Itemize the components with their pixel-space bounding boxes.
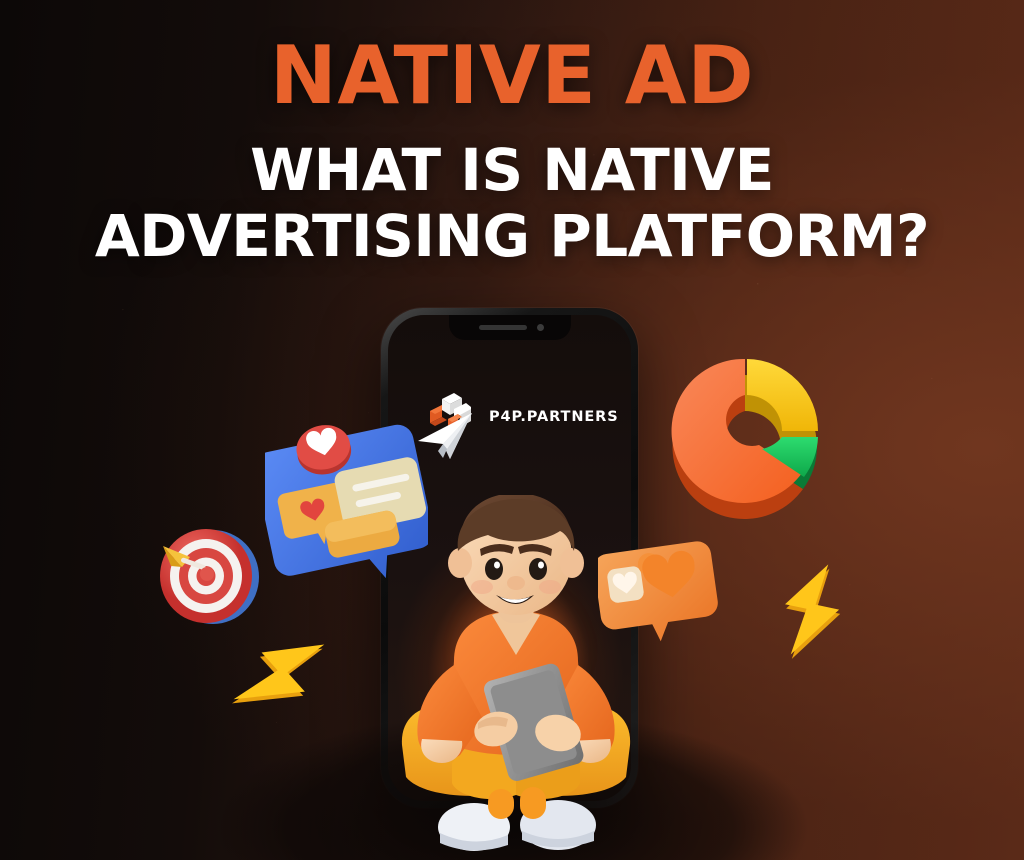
phone-notch: [449, 315, 571, 340]
heading-block: NATIVE AD WHAT IS NATIVE ADVERTISING PLA…: [0, 38, 1024, 269]
page-title: NATIVE AD: [0, 38, 1024, 114]
lightning-bolt-right-icon: [766, 560, 858, 664]
page-subtitle: WHAT IS NATIVE ADVERTISING PLATFORM?: [0, 138, 1024, 269]
donut-chart-icon: [655, 345, 835, 535]
front-camera-icon: [537, 324, 544, 331]
character-illustration: [392, 495, 640, 860]
earpiece-speaker-icon: [479, 325, 527, 330]
target-dart-icon: [150, 521, 268, 631]
brand-name: P4P.PARTNERS: [489, 409, 619, 425]
poster-canvas: NATIVE AD WHAT IS NATIVE ADVERTISING PLA…: [0, 0, 1024, 860]
lightning-bolt-left-icon: [228, 623, 332, 735]
